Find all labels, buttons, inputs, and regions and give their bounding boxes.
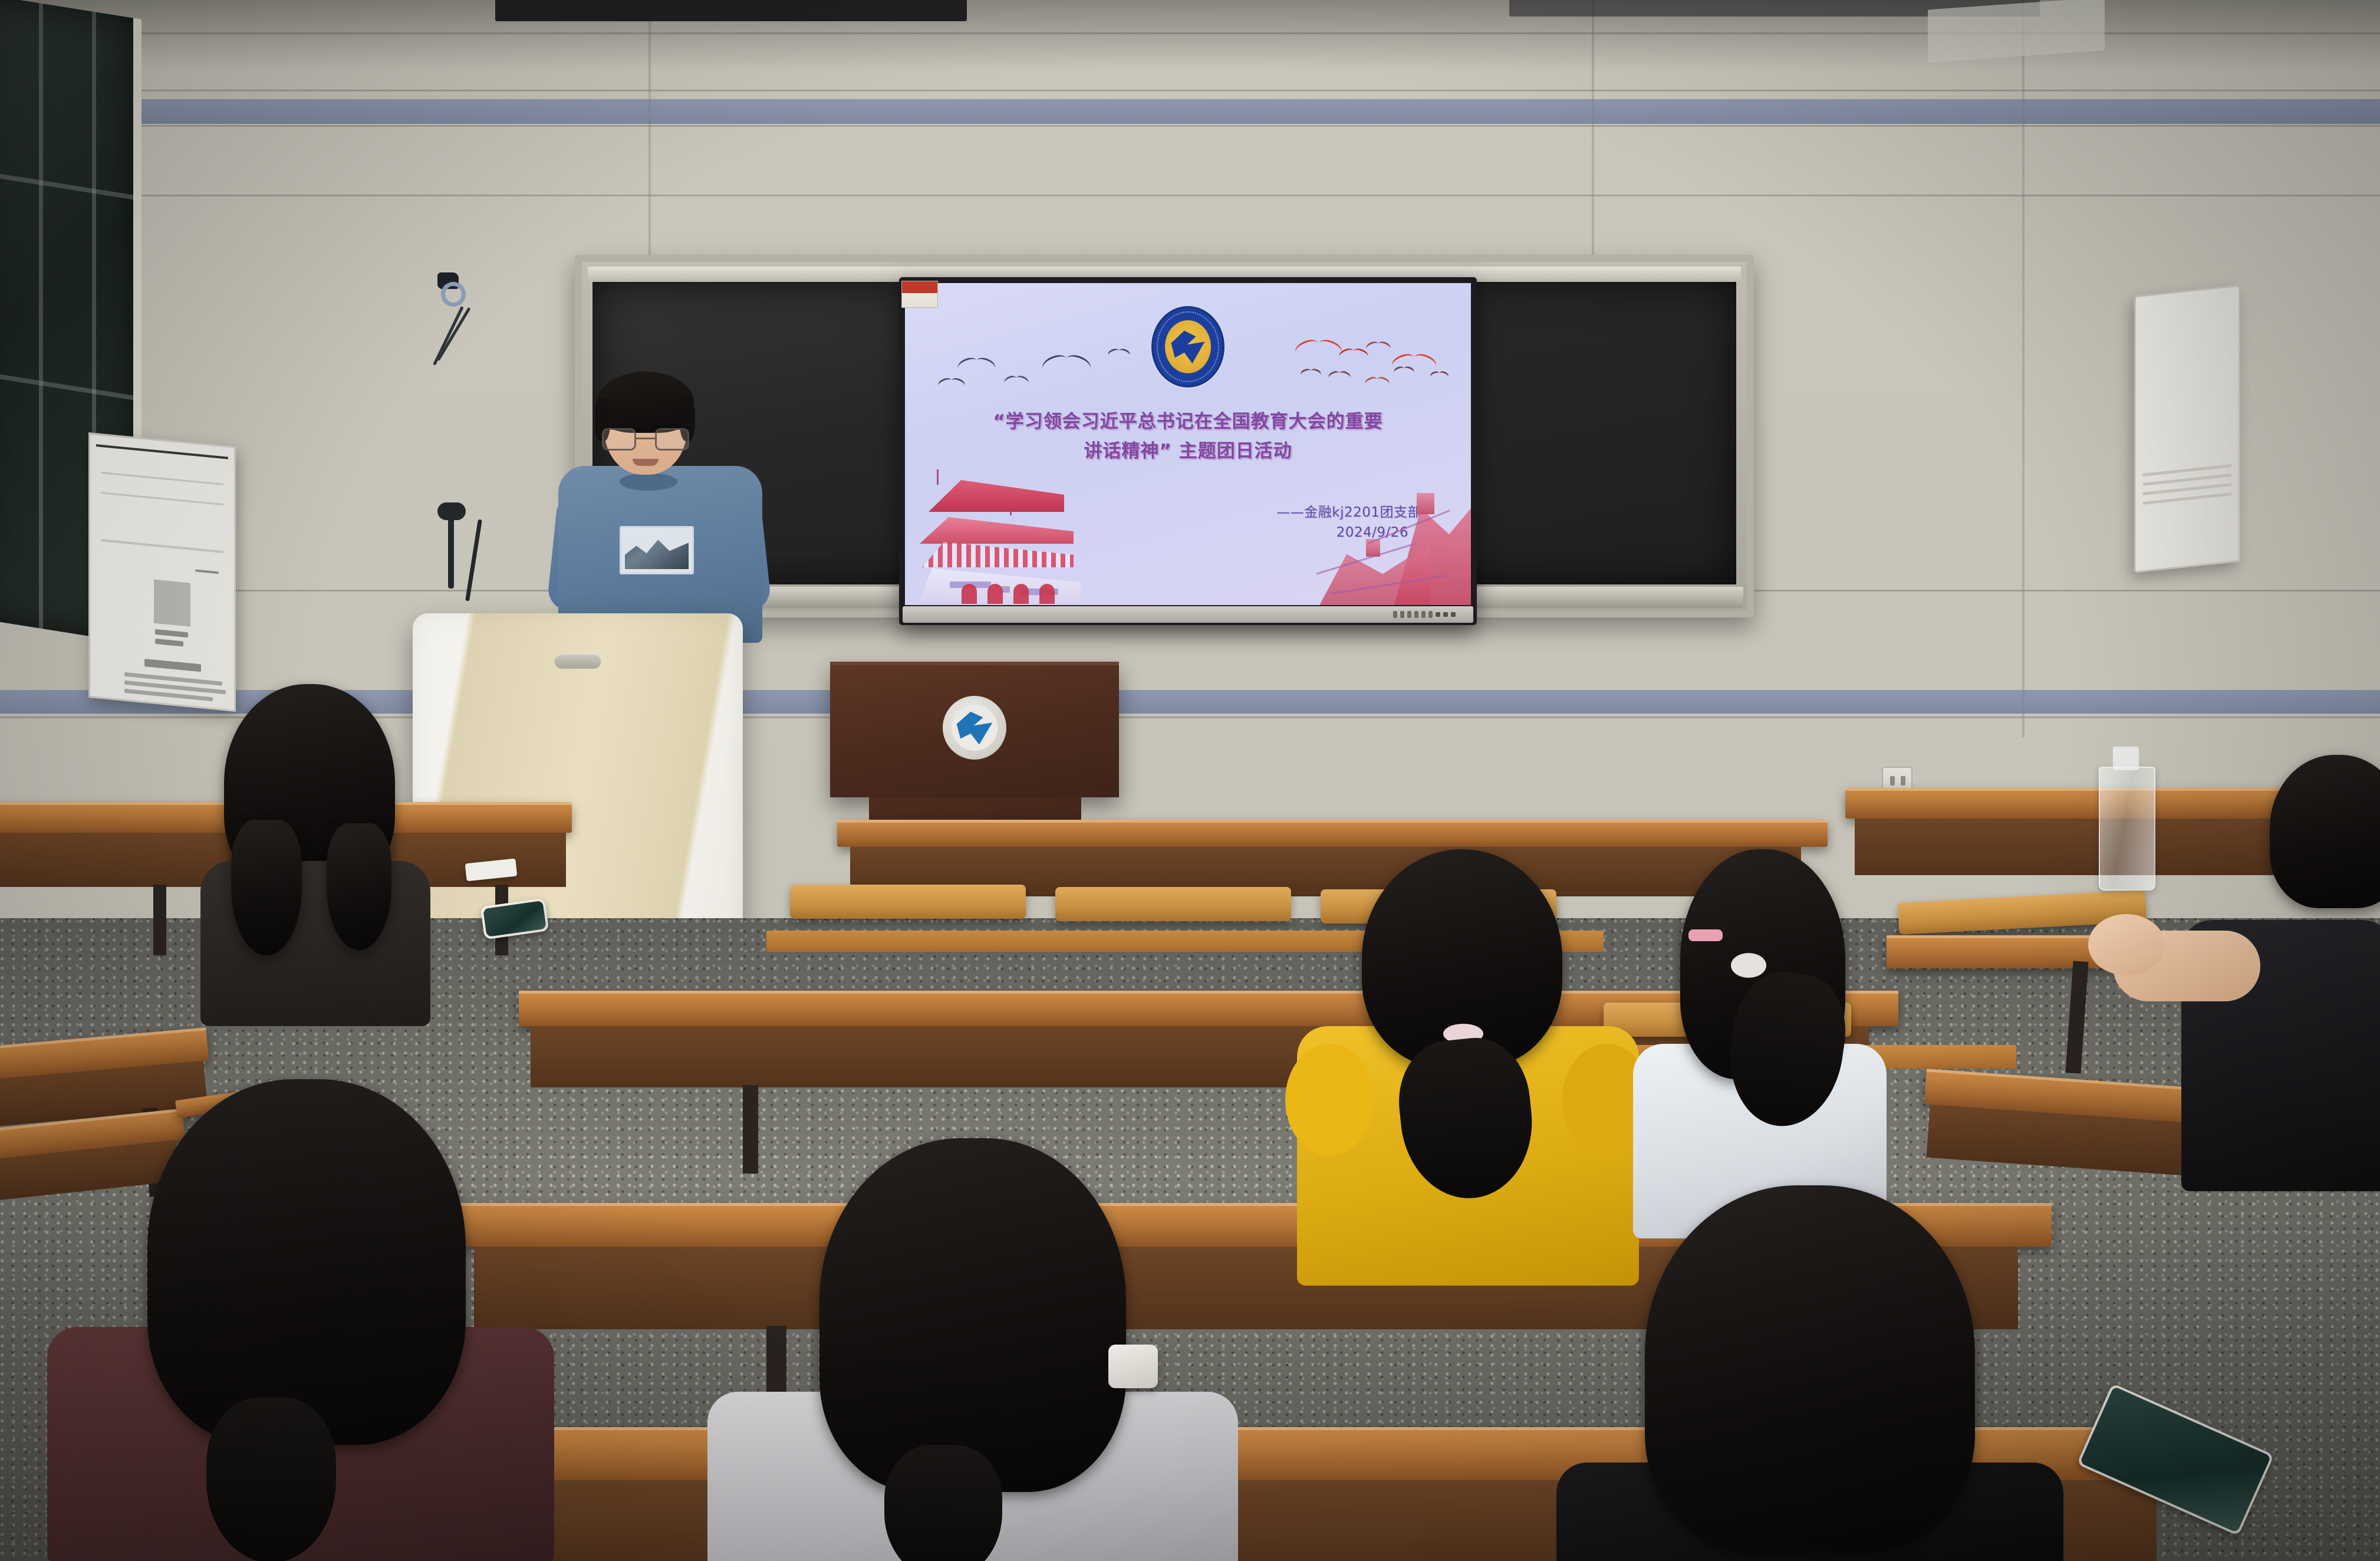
student-hand <box>2088 914 2165 975</box>
desk-item-cup <box>1108 1345 1158 1388</box>
student-row2-white <box>1627 849 1892 1238</box>
display-button[interactable] <box>1414 611 1418 618</box>
classroom-scene: “学习领会习近平总书记在全国教育大会的重要 讲话精神” 主题团日活动 ——金融k… <box>0 0 2380 1561</box>
slide-title: “学习领会习近平总书记在全国教育大会的重要 讲话精神” 主题团日活动 <box>925 407 1451 466</box>
glasses-icon <box>602 428 689 452</box>
microphone-head <box>437 502 466 520</box>
hair-tie <box>1731 953 1766 978</box>
display-button[interactable] <box>1400 611 1404 618</box>
presenter-shirt-print <box>620 526 694 574</box>
university-emblem-icon <box>1153 308 1223 386</box>
student-hair <box>1645 1185 1975 1551</box>
presentation-slide: “学习领会习近平总书记在全国教育大会的重要 讲话精神” 主题团日活动 ——金融k… <box>905 283 1471 605</box>
display-control-bar[interactable] <box>903 606 1473 623</box>
student-front-maroon <box>35 1079 566 1561</box>
display-button[interactable] <box>1407 611 1411 618</box>
slide-title-line-2: 讲话精神” 主题团日活动 <box>925 436 1451 466</box>
student-ponytail <box>884 1445 1002 1561</box>
lectern-badge <box>554 653 601 669</box>
student-hair <box>147 1079 466 1445</box>
presenter-collar <box>620 473 677 491</box>
student-presenter <box>563 377 758 637</box>
microphone-stand <box>448 512 454 589</box>
student-front-grey <box>707 1138 1238 1561</box>
interactive-smart-display[interactable]: “学习领会习近平总书记在全国教育大会的重要 讲话精神” 主题团日活动 ——金融k… <box>899 277 1477 625</box>
screen-corner-label <box>901 281 938 308</box>
side-podium <box>830 662 1119 797</box>
display-indicator <box>1451 612 1456 617</box>
great-wall-illustration <box>1294 469 1471 605</box>
notice-photo-placeholder <box>154 580 190 627</box>
student-row1-left <box>195 684 442 991</box>
student-front-center <box>1556 1185 2063 1561</box>
wall-notice-board <box>88 432 236 712</box>
tiananmen-gate-illustration <box>911 469 1082 605</box>
display-button[interactable] <box>1428 611 1433 618</box>
display-indicator <box>1436 612 1440 617</box>
podium-emblem-icon <box>943 696 1006 760</box>
display-button[interactable] <box>1421 611 1426 618</box>
slide-title-line-1: “学习领会习近平总书记在全国教育大会的重要 <box>925 407 1451 436</box>
student-hair <box>819 1138 1126 1492</box>
hair-clip-icon <box>1688 929 1723 941</box>
presenter-mouth <box>633 459 659 466</box>
ceiling-fixture-left <box>495 0 967 21</box>
display-indicator <box>1443 612 1448 617</box>
student-ponytail <box>206 1398 336 1561</box>
water-bottle <box>2099 767 2155 890</box>
air-conditioner-unit <box>2134 285 2240 573</box>
display-button[interactable] <box>1393 611 1397 618</box>
